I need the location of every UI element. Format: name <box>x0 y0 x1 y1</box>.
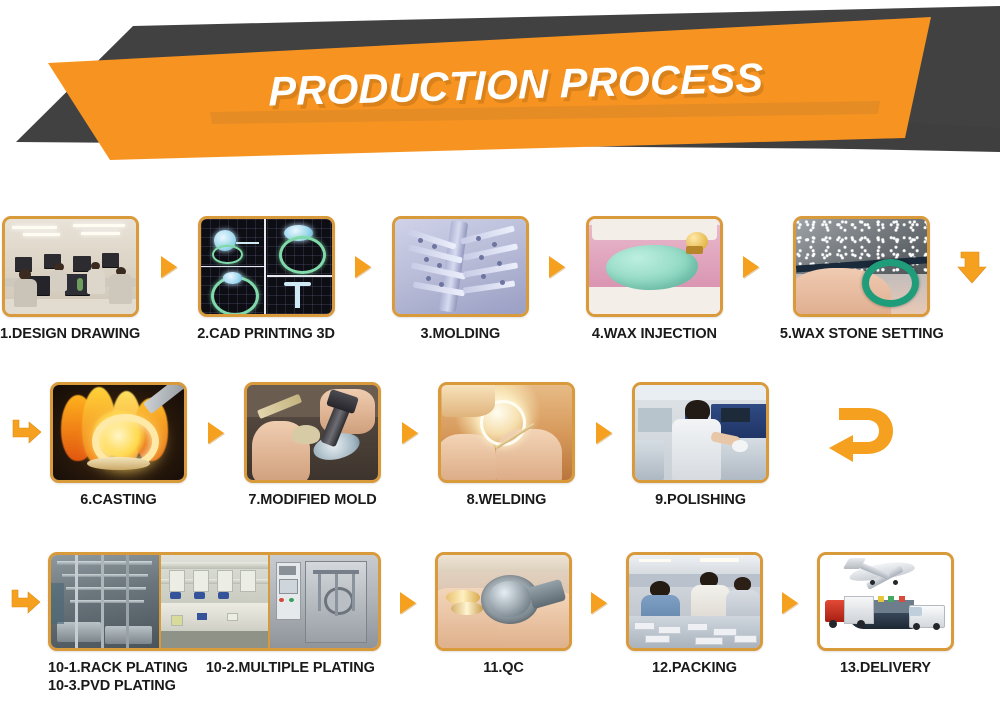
step-card-3[interactable]: 3.MOLDING <box>392 216 529 342</box>
connector-8-9 <box>575 382 632 483</box>
step-9-label: 9.POLISHING <box>655 492 746 508</box>
connector-6-7 <box>187 382 244 483</box>
triangle-right-icon <box>355 256 371 278</box>
step-7-image <box>244 382 381 483</box>
triangle-right-icon <box>596 422 612 444</box>
connector-7-8 <box>381 382 438 483</box>
step-8-image <box>438 382 575 483</box>
connector-3-4 <box>529 216 586 317</box>
process-row-1: 1.DESIGN DRAWING <box>0 216 1000 342</box>
step-11-image <box>435 552 572 651</box>
process-row-2: 6.CASTING 7.MODIFIED MOLD <box>0 382 1000 508</box>
step-card-5[interactable]: 5.WAX STONE SETTING <box>780 216 944 342</box>
step-12-label: 12.PACKING <box>652 660 737 676</box>
connector-row2-start <box>0 382 50 483</box>
step-card-12[interactable]: 12.PACKING <box>626 552 763 676</box>
step-10-panel-rack-plating <box>51 555 159 648</box>
step-10-3-label: 10-3.PVD PLATING <box>48 678 176 694</box>
step-5-label: 5.WAX STONE SETTING <box>780 326 944 342</box>
triangle-right-icon <box>782 592 798 614</box>
connector-row2-end <box>769 382 952 483</box>
step-3-image <box>392 216 529 317</box>
triangle-right-icon <box>208 422 224 444</box>
step-1-label: 1.DESIGN DRAWING <box>0 326 140 342</box>
arrow-right-elbow-icon <box>8 417 42 449</box>
step-card-2[interactable]: 2.CAD PRINTING 3D <box>197 216 335 342</box>
connector-2-3 <box>335 216 392 317</box>
step-3-label: 3.MOLDING <box>421 326 501 342</box>
page-header-banner: PRODUCTION PROCESS <box>0 0 1000 185</box>
step-card-8[interactable]: 8.WELDING <box>438 382 575 508</box>
step-5-image <box>793 216 930 317</box>
step-7-label: 7.MODIFIED MOLD <box>248 492 376 508</box>
step-1-image <box>2 216 139 317</box>
step-10-panel-pvd-plating <box>268 555 378 648</box>
step-10-panel-multiple-plating <box>159 555 269 648</box>
step-2-image <box>198 216 335 317</box>
step-card-1[interactable]: 1.DESIGN DRAWING <box>0 216 140 342</box>
step-4-image <box>586 216 723 317</box>
process-row-3: 10-1.RACK PLATING 10-2.MULTIPLE PLATING … <box>0 552 1000 694</box>
triangle-right-icon <box>591 592 607 614</box>
step-11-label: 11.QC <box>483 660 524 676</box>
arrow-u-turn-icon <box>823 402 899 464</box>
step-13-label: 13.DELIVERY <box>840 660 931 676</box>
connector-12-13 <box>763 552 817 653</box>
connector-11-12 <box>572 552 626 653</box>
step-card-9[interactable]: 9.POLISHING <box>632 382 769 508</box>
step-card-7[interactable]: 7.MODIFIED MOLD <box>244 382 381 508</box>
step-card-13[interactable]: 13.DELIVERY <box>817 552 954 676</box>
step-13-image <box>817 552 954 651</box>
step-2-label: 2.CAD PRINTING 3D <box>197 326 335 342</box>
step-4-label: 4.WAX INJECTION <box>592 326 717 342</box>
step-8-label: 8.WELDING <box>467 492 547 508</box>
triangle-right-icon <box>549 256 565 278</box>
step-card-11[interactable]: 11.QC <box>435 552 572 676</box>
step-card-10[interactable]: 10-1.RACK PLATING 10-2.MULTIPLE PLATING … <box>48 552 381 694</box>
connector-4-5 <box>723 216 780 317</box>
triangle-right-icon <box>743 256 759 278</box>
step-12-image <box>626 552 763 651</box>
step-6-label: 6.CASTING <box>80 492 156 508</box>
step-6-image <box>50 382 187 483</box>
step-10-2-label: 10-2.MULTIPLE PLATING <box>206 660 375 676</box>
connector-row3-start <box>0 552 48 653</box>
step-10-image <box>48 552 381 651</box>
step-card-4[interactable]: 4.WAX INJECTION <box>586 216 723 342</box>
arrow-down-icon <box>957 247 987 287</box>
connector-row1-end <box>944 216 1000 317</box>
connector-1-2 <box>140 216 197 317</box>
arrow-right-elbow-icon <box>7 587 41 619</box>
step-9-image <box>632 382 769 483</box>
triangle-right-icon <box>400 592 416 614</box>
connector-10-11 <box>381 552 435 653</box>
triangle-right-icon <box>161 256 177 278</box>
triangle-right-icon <box>402 422 418 444</box>
step-10-1-label: 10-1.RACK PLATING <box>48 660 188 676</box>
step-card-6[interactable]: 6.CASTING <box>50 382 187 508</box>
